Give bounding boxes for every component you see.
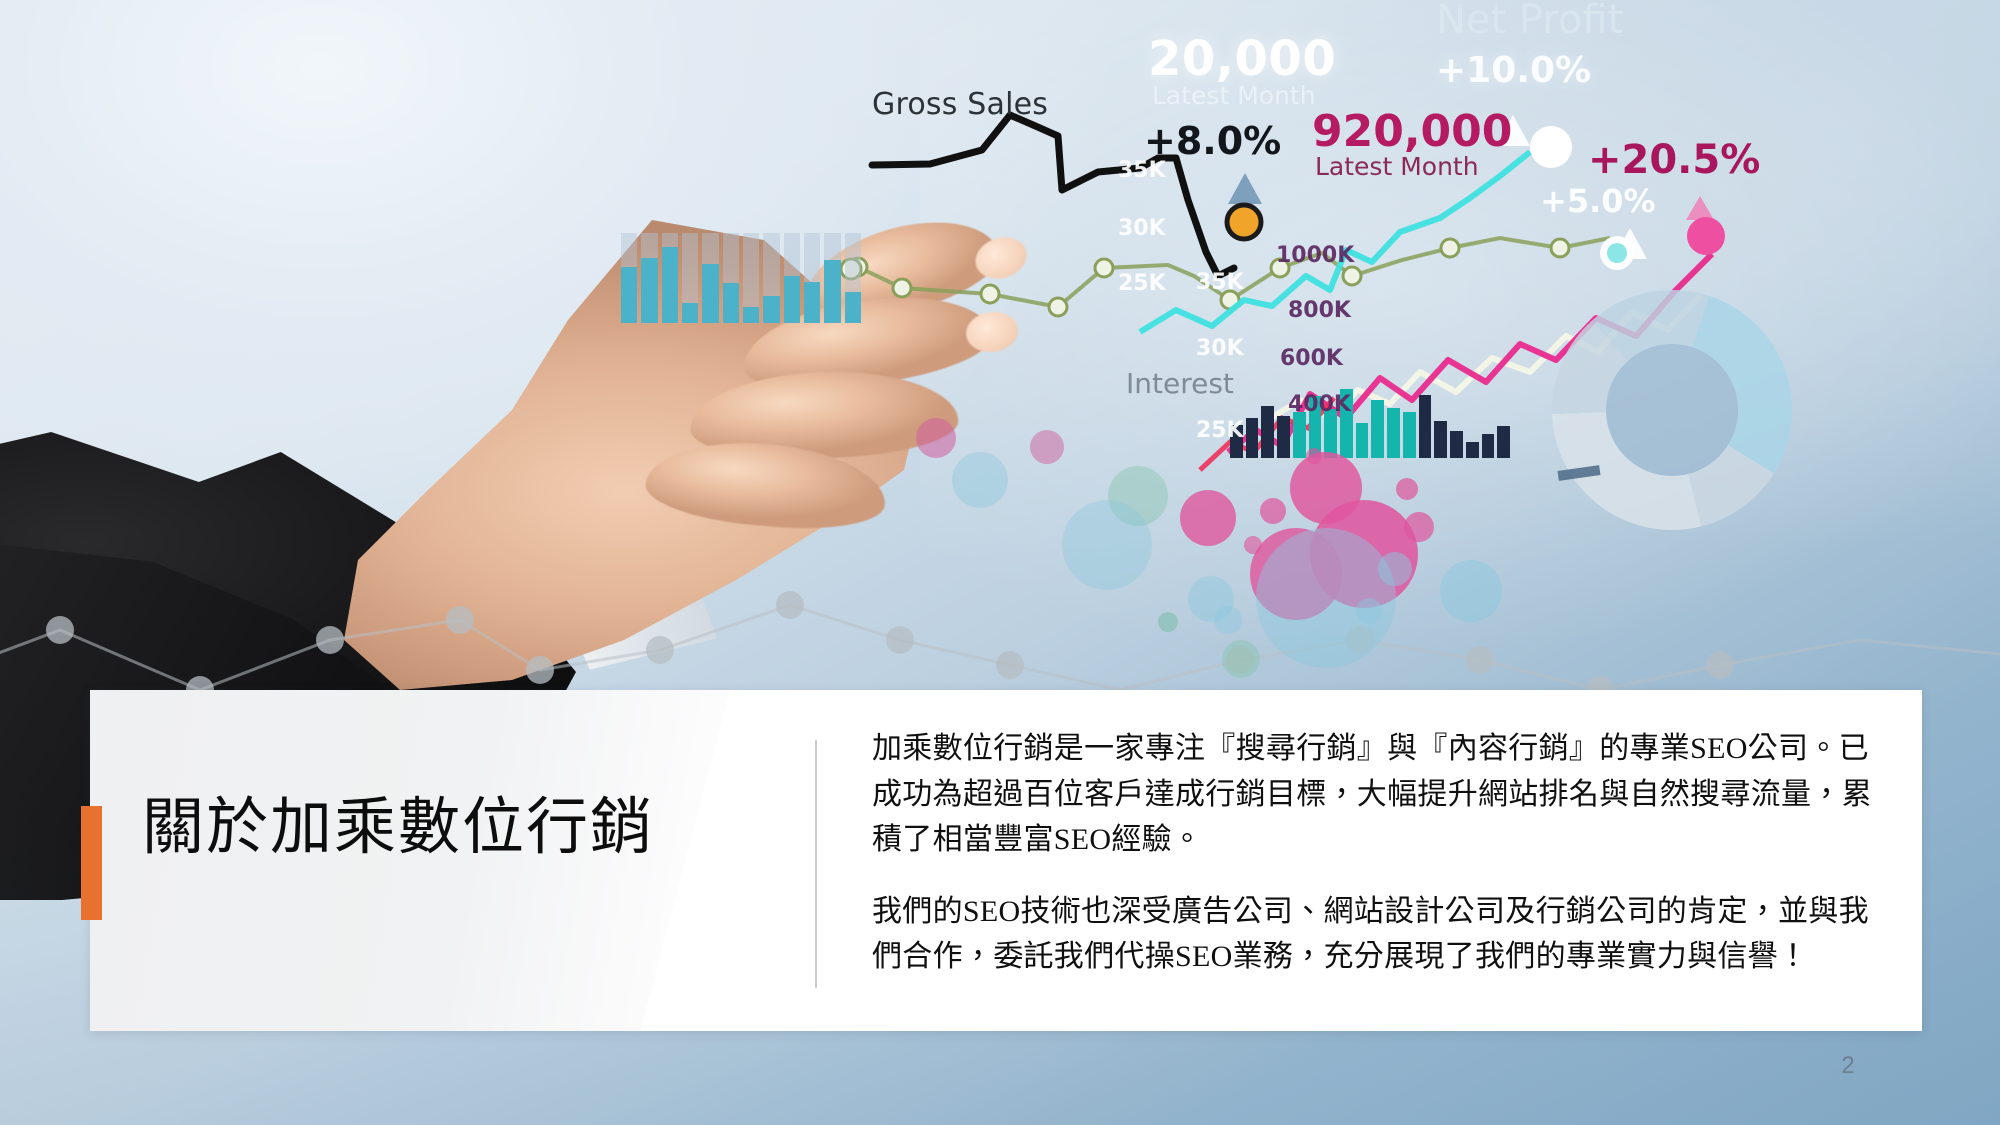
vertical-divider xyxy=(815,740,817,988)
paragraph-1: 加乘數位行銷是一家專注『搜尋行銷』與『內容行銷』的專業SEO公司。已成功為超過百… xyxy=(872,726,1892,863)
orange-accent-bar xyxy=(81,806,102,920)
page-number: 2 xyxy=(1828,1052,1868,1080)
slide-canvas: Gross Sales 20,000 Latest Month +8.0% Ne… xyxy=(0,0,2000,1125)
page-title: 關於加乘數位行銷 xyxy=(142,776,742,866)
body-text-block: 加乘數位行銷是一家專注『搜尋行銷』與『內容行銷』的專業SEO公司。已成功為超過百… xyxy=(872,726,1892,980)
paragraph-2: 我們的SEO技術也深受廣告公司、網站設計公司及行銷公司的肯定，並與我們合作，委託… xyxy=(872,889,1892,980)
